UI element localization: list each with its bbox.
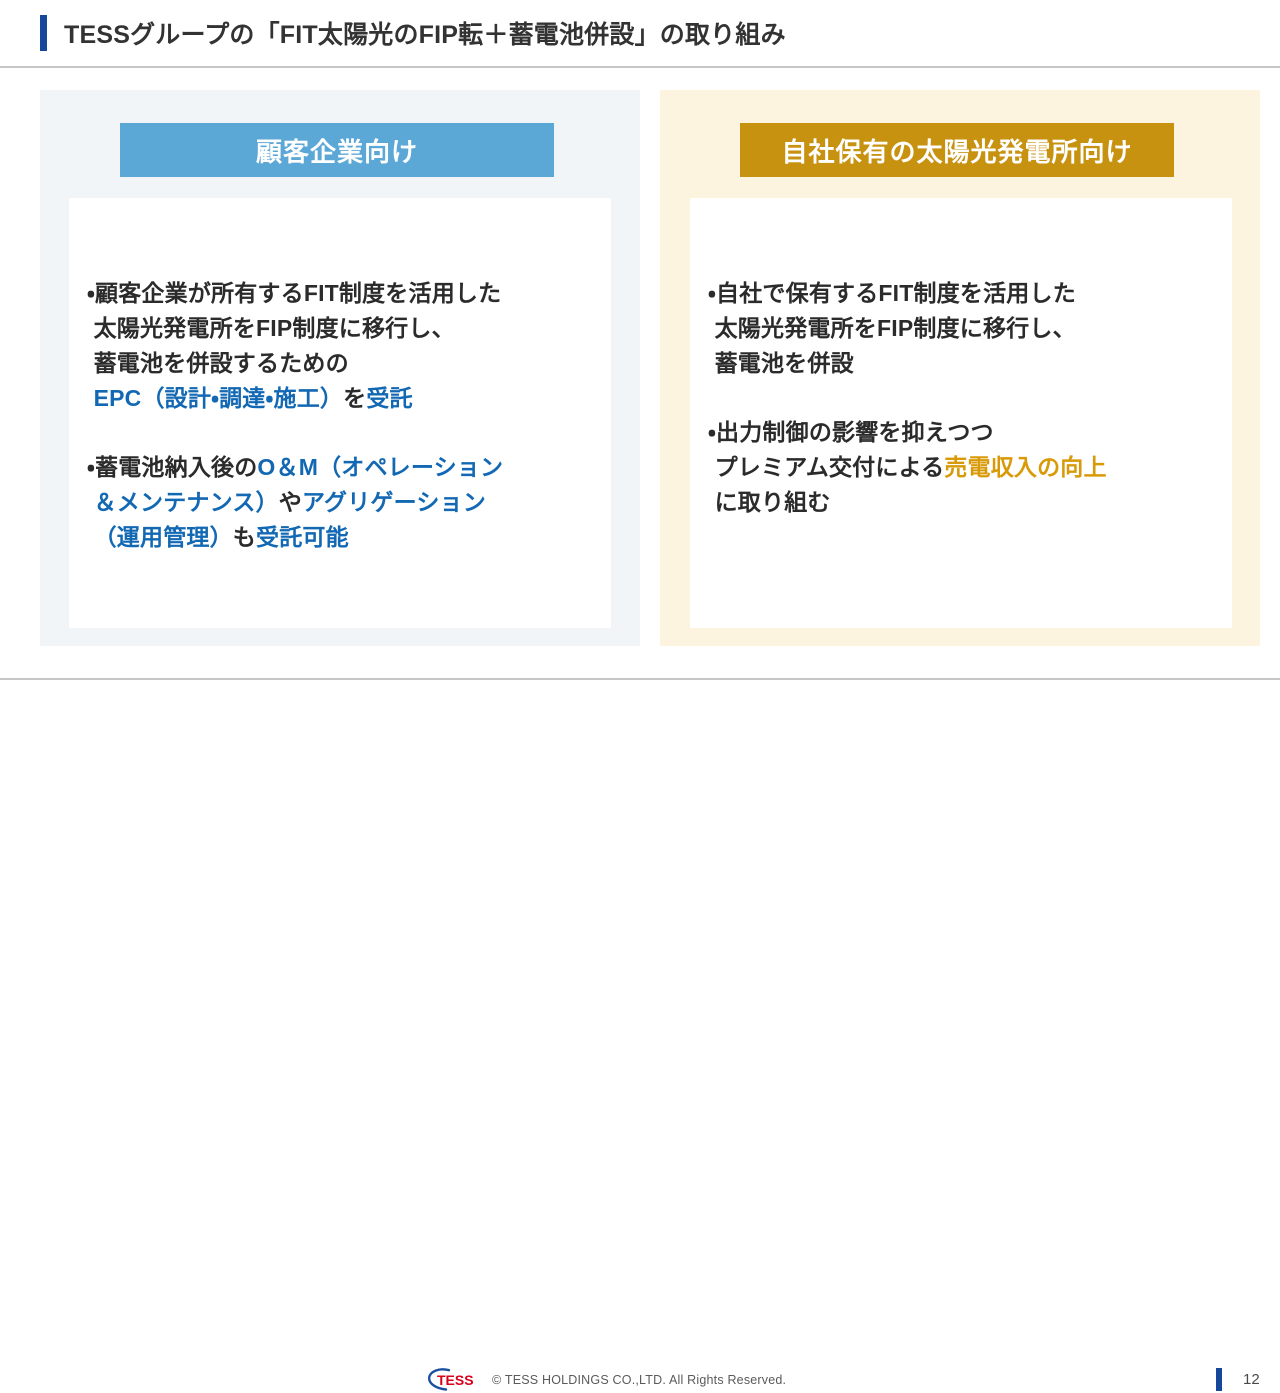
bullet-item: ・出力制御の影響を抑えつつ プレミアム交付による売電収入の向上 に取り組む bbox=[708, 415, 1214, 520]
bullet-item: ・蓄電池納入後のO＆M（オペレーション ＆メンテナンス）やアグリゲーション （運… bbox=[87, 450, 593, 555]
slide-title-bar: TESSグループの「FIT太陽光のFIP転＋蓄電池併設」の取り組み bbox=[0, 0, 1280, 66]
tess-logo-icon: TESS bbox=[427, 1367, 489, 1393]
text-run: に取り組む bbox=[708, 489, 831, 515]
title-divider bbox=[0, 66, 1280, 68]
panel-banner-own-solar: 自社保有の太陽光発電所向け bbox=[740, 123, 1174, 177]
slide-root: TESSグループの「FIT太陽光のFIP転＋蓄電池併設」の取り組み 顧客企業向け… bbox=[0, 0, 1280, 720]
bullet-item: ・顧客企業が所有するFIT制度を活用した 太陽光発電所をFIP制度に移行し、 蓄… bbox=[87, 276, 593, 416]
panels-container: 顧客企業向け ・顧客企業が所有するFIT制度を活用した 太陽光発電所をFIP制度… bbox=[0, 90, 1280, 646]
page-title: TESSグループの「FIT太陽光のFIP転＋蓄電池併設」の取り組み bbox=[64, 15, 786, 51]
copyright-text: © TESS HOLDINGS CO.,LTD. All Rights Rese… bbox=[492, 1373, 786, 1387]
text-run: を bbox=[343, 385, 366, 411]
panel-own-solar: 自社保有の太陽光発電所向け ・自社で保有するFIT制度を活用した 太陽光発電所を… bbox=[660, 90, 1260, 646]
text-run: も bbox=[233, 524, 256, 550]
panel-banner-customer: 顧客企業向け bbox=[120, 123, 554, 177]
text-run: や bbox=[279, 489, 302, 515]
panel-card-customer: ・顧客企業が所有するFIT制度を活用した 太陽光発電所をFIP制度に移行し、 蓄… bbox=[69, 198, 611, 628]
text-run: ・自社で保有するFIT制度を活用した 太陽光発電所をFIP制度に移行し、 蓄電池… bbox=[708, 280, 1076, 376]
panel-customer: 顧客企業向け ・顧客企業が所有するFIT制度を活用した 太陽光発電所をFIP制度… bbox=[40, 90, 640, 646]
page-number: 12 bbox=[1243, 1371, 1260, 1388]
text-run: 売電収入の向上 bbox=[944, 454, 1106, 480]
text-run: 受託 bbox=[366, 385, 412, 411]
panel-banner-label-own-solar: 自社保有の太陽光発電所向け bbox=[781, 132, 1132, 169]
text-run: 受託可能 bbox=[256, 524, 349, 550]
bullet-item: ・自社で保有するFIT制度を活用した 太陽光発電所をFIP制度に移行し、 蓄電池… bbox=[708, 276, 1214, 381]
page-number-accent bbox=[1216, 1368, 1222, 1391]
panel-card-own-solar: ・自社で保有するFIT制度を活用した 太陽光発電所をFIP制度に移行し、 蓄電池… bbox=[690, 198, 1232, 628]
title-accent-bar bbox=[40, 15, 47, 51]
text-run: ・蓄電池納入後の bbox=[87, 454, 257, 480]
panel-banner-label-customer: 顧客企業向け bbox=[256, 132, 418, 169]
text-run: EPC（設計・調達・施工） bbox=[94, 385, 344, 411]
svg-text:TESS: TESS bbox=[437, 1372, 474, 1388]
slide-footer: TESS © TESS HOLDINGS CO.,LTD. All Rights… bbox=[0, 680, 1280, 720]
